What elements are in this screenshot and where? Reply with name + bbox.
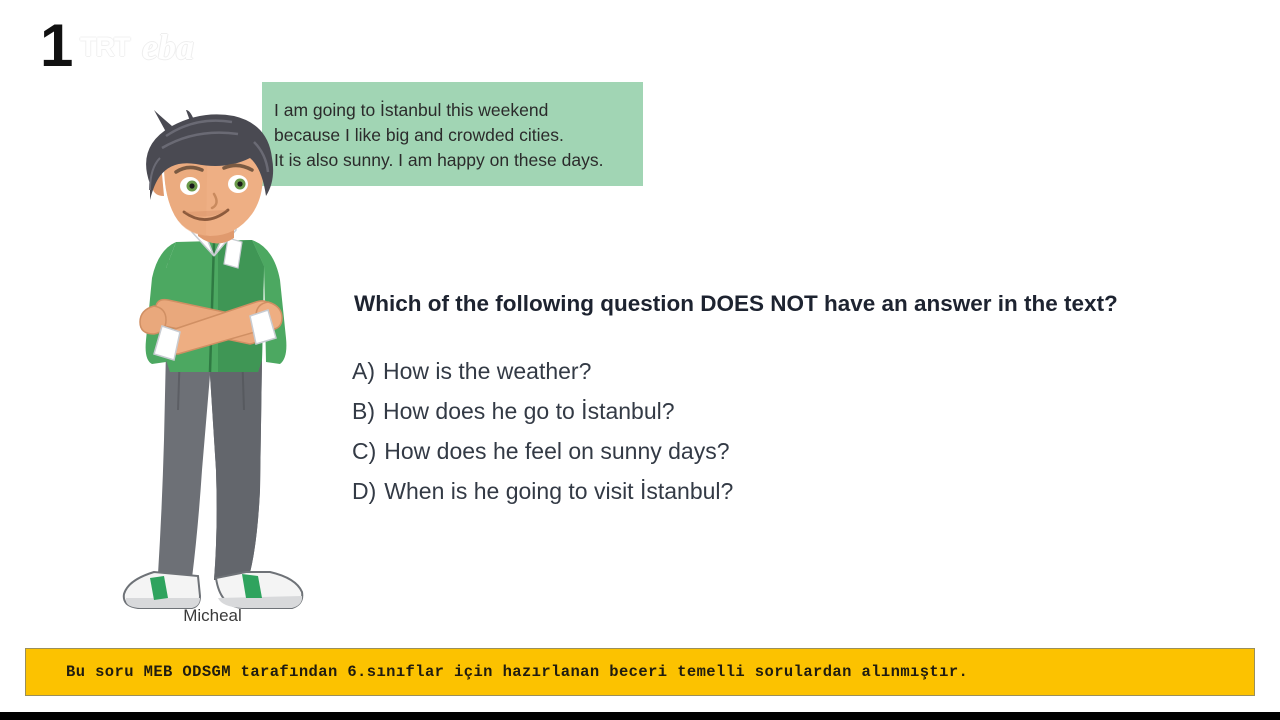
speech-bubble-text: I am going to İstanbul this weekend beca…	[274, 98, 634, 173]
right-shoe	[216, 572, 302, 608]
speech-bubble: I am going to İstanbul this weekend beca…	[262, 82, 643, 186]
bottom-black-strip	[0, 712, 1280, 720]
trt-eba-logo: TRT eba	[80, 26, 220, 68]
option-b-text: How does he go to İstanbul?	[383, 398, 675, 425]
option-a-letter: A)	[352, 358, 375, 385]
question-number: 1	[40, 16, 71, 76]
trt-wordmark: TRT	[80, 32, 129, 63]
option-c-text: How does he feel on sunny days?	[384, 438, 729, 465]
left-shoe	[124, 572, 200, 608]
attribution-banner: Bu soru MEB ODSGM tarafından 6.sınıflar …	[25, 648, 1255, 696]
character-illustration	[110, 110, 315, 610]
answer-options-list: A) How is the weather? B) How does he go…	[352, 358, 733, 518]
option-d-text: When is he going to visit İstanbul?	[384, 478, 733, 505]
question-heading: Which of the following question DOES NOT…	[354, 291, 1118, 317]
option-a-text: How is the weather?	[383, 358, 591, 385]
option-a[interactable]: A) How is the weather?	[352, 358, 733, 398]
option-c[interactable]: C) How does he feel on sunny days?	[352, 438, 733, 478]
option-b[interactable]: B) How does he go to İstanbul?	[352, 398, 733, 438]
eba-wordmark: eba	[142, 26, 194, 68]
attribution-banner-text: Bu soru MEB ODSGM tarafından 6.sınıflar …	[66, 663, 968, 681]
option-c-letter: C)	[352, 438, 376, 465]
option-d-letter: D)	[352, 478, 376, 505]
character-name-label: Micheal	[110, 606, 315, 626]
slide-canvas: 1 TRT eba I am going to İstanbul this we…	[0, 0, 1280, 720]
option-d[interactable]: D) When is he going to visit İstanbul?	[352, 478, 733, 518]
option-b-letter: B)	[352, 398, 375, 425]
